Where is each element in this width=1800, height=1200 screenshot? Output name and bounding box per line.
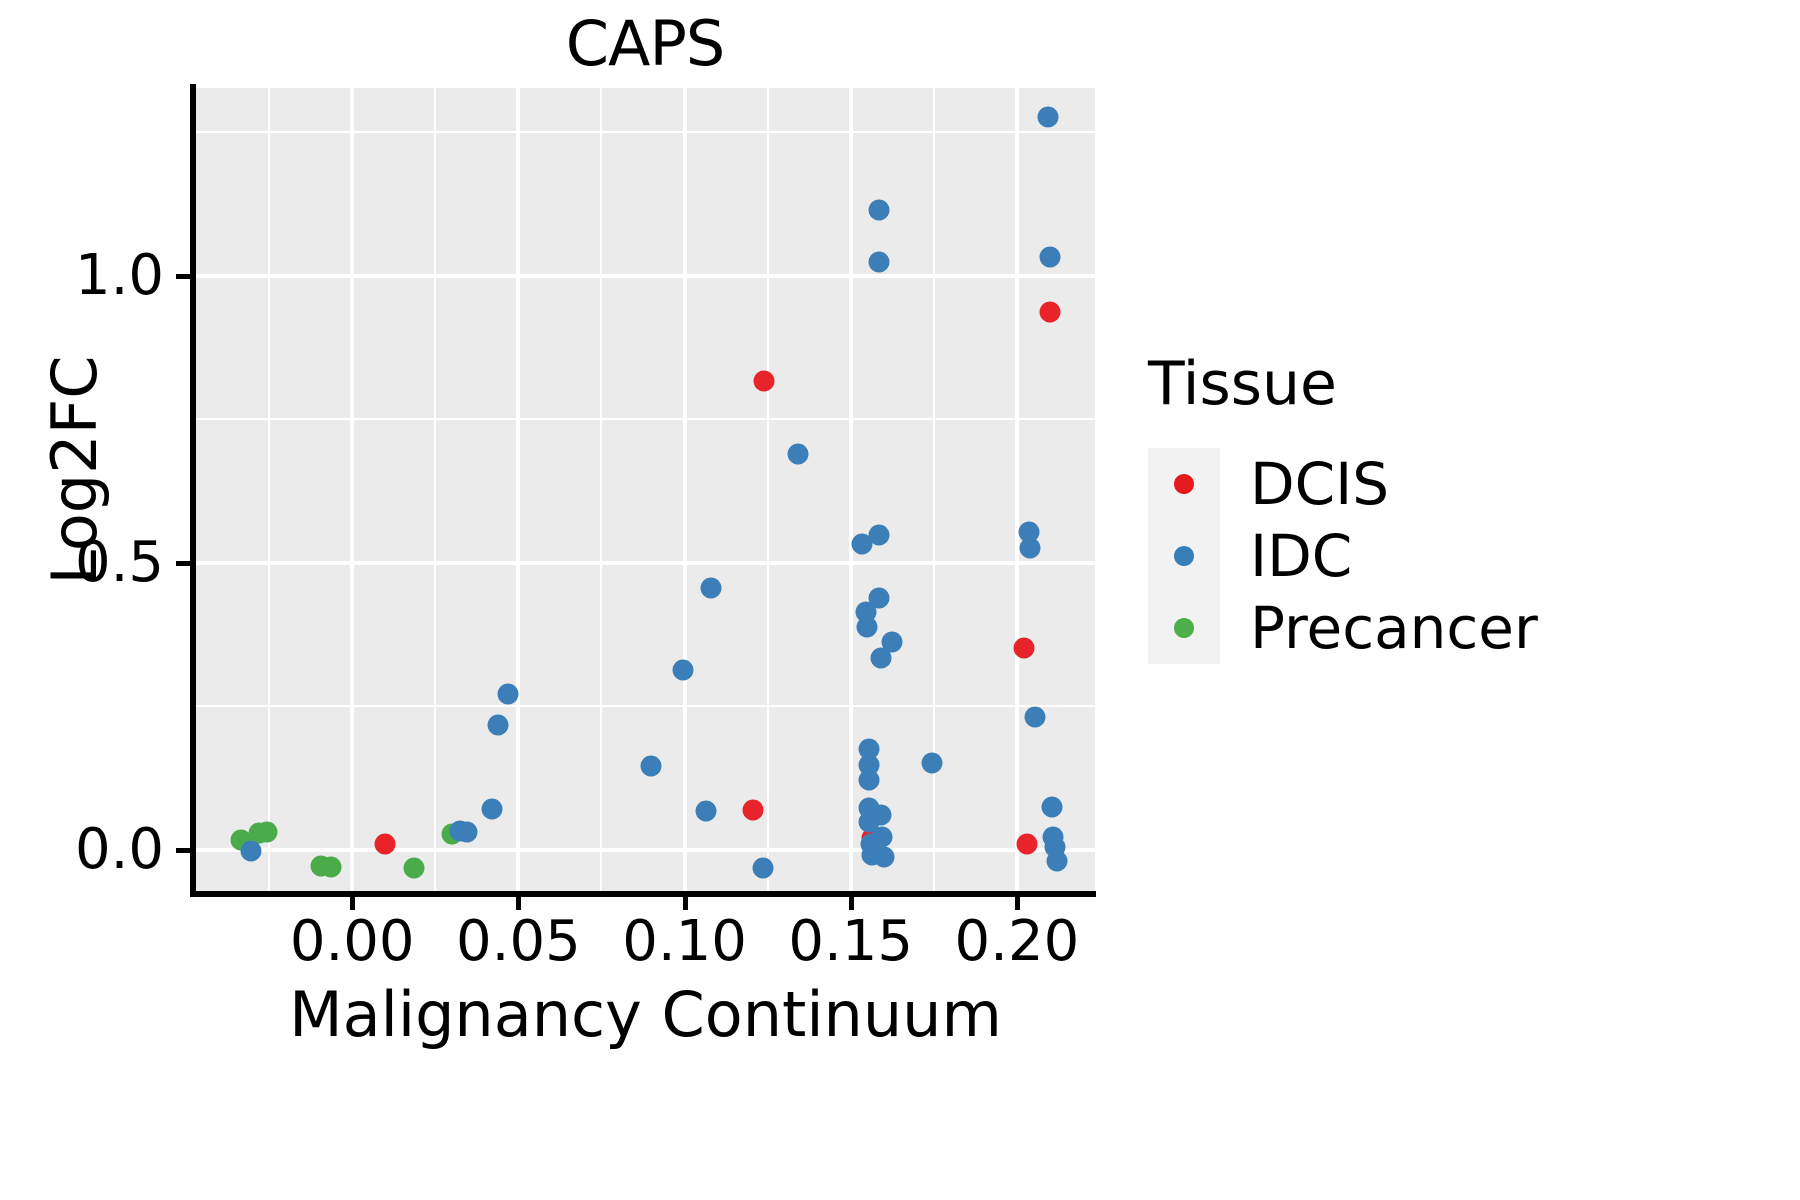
legend-label: IDC [1250, 525, 1352, 587]
data-point-idc [456, 822, 477, 843]
data-point-idc [488, 714, 509, 735]
x-tick-mark [849, 894, 854, 910]
legend-item-precancer[interactable]: Precancer [1148, 592, 1748, 664]
data-point-dcis [375, 833, 396, 854]
data-point-idc [498, 684, 519, 705]
data-point-dcis [1016, 833, 1037, 854]
legend: Tissue DCISIDCPrecancer [1148, 352, 1748, 664]
data-point-idc [1046, 851, 1067, 872]
x-tick-mark [683, 894, 688, 910]
legend-entries: DCISIDCPrecancer [1148, 448, 1748, 664]
data-point-idc [787, 444, 808, 465]
data-point-idc [1038, 107, 1059, 128]
data-point-idc [922, 752, 943, 773]
gridline-x-minor [767, 88, 769, 893]
legend-title: Tissue [1148, 352, 1748, 416]
gridline-x-minor [434, 88, 436, 893]
data-point-idc [641, 755, 662, 776]
gridline-x-major [516, 88, 520, 893]
gridline-x-major [1015, 88, 1019, 893]
legend-item-dcis[interactable]: DCIS [1148, 448, 1748, 520]
data-point-precancer [403, 858, 424, 879]
page-title: CAPS [195, 8, 1095, 80]
x-tick-mark [1015, 894, 1020, 910]
legend-label: DCIS [1250, 453, 1389, 515]
x-axis-title: Malignancy Continuum [196, 980, 1095, 1050]
y-tick-mark [176, 274, 192, 279]
legend-item-idc[interactable]: IDC [1148, 520, 1748, 592]
data-point-idc [701, 577, 722, 598]
y-tick-mark [176, 848, 192, 853]
gridline-y-major [196, 848, 1095, 852]
gridline-y-major [196, 561, 1095, 565]
circle-marker-icon [1174, 474, 1194, 494]
scatter-plot-figure: CAPS 0.00.51.0 0.000.050.100.150.20 Mali… [0, 0, 1800, 1200]
y-axis-line [190, 84, 196, 897]
data-point-idc [870, 805, 891, 826]
gridline-x-major [849, 88, 853, 893]
gridline-x-minor [600, 88, 602, 893]
x-tick-mark [516, 894, 521, 910]
gridline-y-minor [196, 418, 1095, 420]
data-point-dcis [1040, 301, 1061, 322]
data-point-idc [868, 200, 889, 221]
x-tick-label: 0.05 [456, 912, 581, 972]
data-point-idc [240, 841, 261, 862]
gridline-x-major [350, 88, 354, 893]
plot-panel [196, 88, 1095, 893]
data-point-dcis [1013, 638, 1034, 659]
data-point-idc [1025, 706, 1046, 727]
x-tick-label: 0.00 [290, 912, 415, 972]
data-point-dcis [742, 799, 763, 820]
y-axis-title: Log2FC [40, 220, 110, 720]
data-point-idc [1040, 247, 1061, 268]
data-point-idc [873, 846, 894, 867]
data-point-idc [868, 525, 889, 546]
legend-key-precancer [1148, 592, 1220, 664]
gridline-x-minor [268, 88, 270, 893]
circle-marker-icon [1174, 618, 1194, 638]
x-tick-label: 0.15 [788, 912, 913, 972]
legend-label: Precancer [1250, 597, 1538, 659]
data-point-idc [672, 660, 693, 681]
data-point-idc [857, 617, 878, 638]
data-point-idc [859, 769, 880, 790]
y-tick-mark [176, 561, 192, 566]
data-point-idc [882, 632, 903, 653]
gridline-y-minor [196, 131, 1095, 133]
data-point-idc [868, 588, 889, 609]
data-point-idc [752, 857, 773, 878]
data-point-idc [1041, 797, 1062, 818]
x-tick-mark [350, 894, 355, 910]
data-point-idc [481, 798, 502, 819]
legend-key-dcis [1148, 448, 1220, 520]
gridline-x-major [683, 88, 687, 893]
data-point-precancer [257, 822, 278, 843]
gridline-y-major [196, 274, 1095, 278]
data-point-idc [868, 251, 889, 272]
x-axis-line [190, 891, 1096, 897]
data-point-idc [872, 826, 893, 847]
y-tick-label: 0.0 [0, 822, 164, 878]
x-tick-label: 0.10 [622, 912, 747, 972]
x-tick-label: 0.20 [955, 912, 1080, 972]
data-point-idc [696, 800, 717, 821]
data-point-precancer [320, 856, 341, 877]
data-point-idc [1020, 538, 1041, 559]
data-point-dcis [754, 370, 775, 391]
gridline-y-minor [196, 705, 1095, 707]
legend-key-idc [1148, 520, 1220, 592]
circle-marker-icon [1174, 546, 1194, 566]
